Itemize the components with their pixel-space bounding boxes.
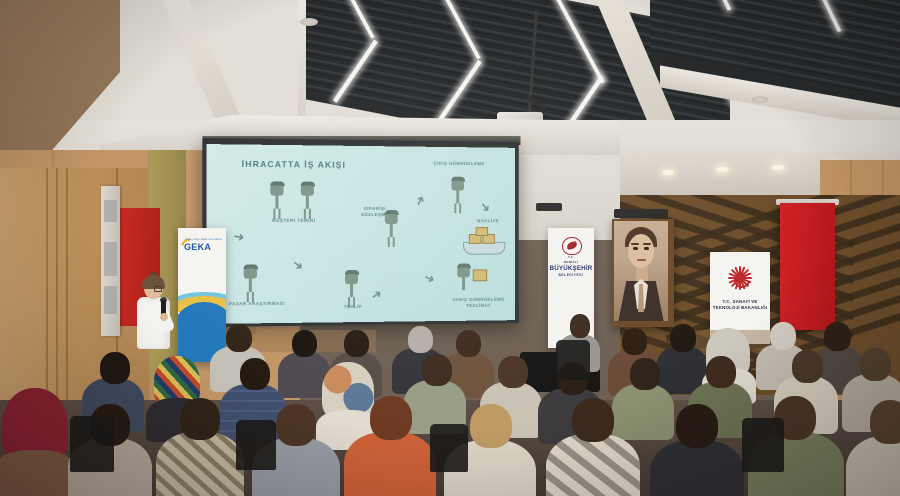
slide-title: İHRACATTA İŞ AKIŞI <box>242 159 346 170</box>
eyeglasses-icon <box>154 286 162 292</box>
slide-arrow-icon: ➜ <box>412 193 428 209</box>
presenter <box>132 272 178 368</box>
chair <box>236 420 276 470</box>
slide-label-cikis-gumrukleme: ÇIKIŞ GÜMRÜKLEME <box>432 161 486 167</box>
slide-label-musteri-temini: MÜŞTERİ TEMİNİ <box>258 218 329 224</box>
slide-arrow-icon: ➜ <box>232 229 245 244</box>
turkish-flag-right: ★ <box>780 203 835 330</box>
sanayi-line-1: T.C. SANAYİ VE <box>710 299 770 304</box>
chair <box>556 340 590 380</box>
ataturk-portrait-frame <box>612 219 674 327</box>
ministry-emblem-icon <box>728 266 752 290</box>
slide-label-pazar-arastirmasi: PAZAR ARAŞTIRMASI <box>225 301 288 307</box>
presenter-hand <box>160 313 168 321</box>
geka-subtitle: Güney Ege Kalkınma Ajansı <box>185 238 222 241</box>
slide-label-varis-gumrukleme: VARIŞ GÜMRÜKLEME TESLİMAT <box>446 297 512 308</box>
denizli-line-4: BELEDİYESİ <box>548 273 594 277</box>
denizli-emblem-icon <box>562 237 582 255</box>
conference-hall-photo: ★ İHRACATTA İŞ AKIŞI <box>0 0 900 496</box>
standing-sign-pillar <box>101 186 120 336</box>
chair <box>742 418 784 472</box>
ceiling-downlight-icon <box>752 96 768 103</box>
ceiling-downlight-icon <box>300 18 318 26</box>
geka-logo-text: GEKA <box>184 242 220 252</box>
sanayi-line-2: TEKNOLOJİ BAKANLIĞI <box>710 305 770 310</box>
slide-arrow-icon: ➜ <box>368 286 384 303</box>
wall-speaker <box>536 203 562 211</box>
wall-speaker <box>614 209 668 218</box>
projection-screen: İHRACATTA İŞ AKIŞI MÜŞTERİ TEMİNİ SİPARİ… <box>206 144 514 324</box>
slide-arrow-icon: ➜ <box>422 270 437 286</box>
slide-arrow-icon: ➜ <box>478 199 494 215</box>
slide-arrow-icon: ➜ <box>290 256 307 273</box>
denizli-line-2: DENİZLİ <box>548 260 594 264</box>
chair <box>70 416 114 472</box>
banner-geka: Güney Ege Kalkınma Ajansı GEKA <box>178 228 226 362</box>
denizli-line-1: T.C. <box>548 256 594 259</box>
chair <box>430 424 468 472</box>
denizli-line-3: BÜYÜKŞEHİR <box>548 265 594 272</box>
slide-label-teklif: TEKLİF <box>335 304 371 310</box>
ataturk-portrait <box>614 221 668 321</box>
slide-label-nakliye: NAKLİYE <box>469 218 507 223</box>
